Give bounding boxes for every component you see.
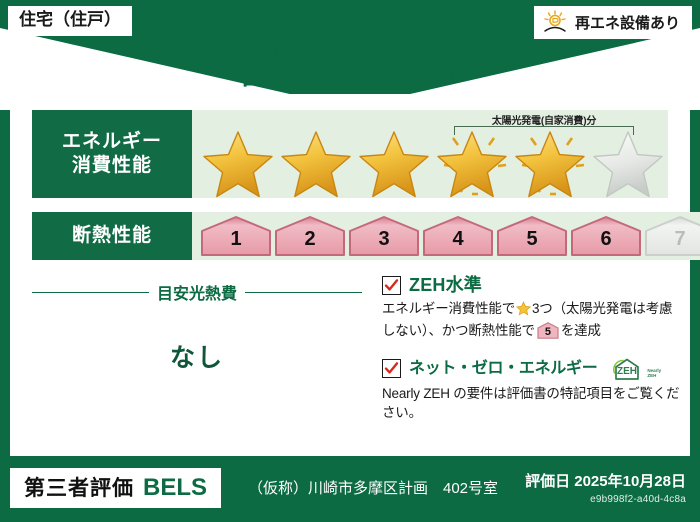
label-title: 建築物省エネ法に基づく 省エネ性能ラベル [0,40,700,93]
zeh-standard-head: ZEH水準 [382,276,682,296]
insulation-level-scale: 1234567 [192,215,700,257]
star-outline-icon [592,130,664,200]
star-icon [202,130,274,200]
star-icon [436,130,508,200]
insulation-house-filled: 3 [348,215,420,257]
evaluation-info: 評価日 2025年10月28日 e9b998f2-a40d-4c8a [525,470,686,505]
utility-cost-block: 目安光熱費 なし [32,280,362,374]
building-name: （仮称）川崎市多摩区計画 402号室 [248,477,498,498]
zeh-block: ZEH水準 エネルギー消費性能で3つ（太陽光発電は考慮しない）、かつ断熱性能で5… [382,276,682,429]
evaluation-date-label: 評価日 [525,473,570,490]
rule-left [32,292,149,293]
insulation-level-icon: 5 [537,322,559,345]
zeh-standard-description: エネルギー消費性能で3つ（太陽光発電は考慮しない）、かつ断熱性能で5を達成 [382,299,682,345]
insulation-house-number: 4 [422,229,494,249]
renewable-badge-label: 再エネ設備あり [575,12,680,33]
footer-bar: 第三者評価 BELS （仮称）川崎市多摩区計画 402号室 評価日 2025年1… [0,458,700,522]
star-icon [358,130,430,200]
insulation-house-number: 2 [274,229,346,249]
star-filled [354,124,432,196]
evaluation-date-value: 2025年10月28日 [574,473,686,490]
energy-performance-label: 住宅（住戸） 再エネ設備あり 建築物省エネ法に基づく 省エネ性能ラベル [0,0,700,522]
zeh-desc-part1: エネルギー消費性能で [382,301,515,316]
renewable-equipment-badge: 再エネ設備あり [534,6,692,39]
title-subtitle: 建築物省エネ法に基づく [0,40,700,57]
energy-label-line2: 消費性能 [72,154,152,178]
evaluation-id: e9b998f2-a40d-4c8a [525,494,686,505]
evaluation-date-row: 評価日 2025年10月28日 [525,470,686,491]
insulation-performance-label: 断熱性能 [32,212,192,260]
net-zero-head: ネット・ゼロ・エネルギー ZEH Nearly ZEH [382,357,682,381]
zeh-desc-part3: を達成 [561,323,601,338]
energy-performance-row: エネルギー 消費性能 太陽光発電(自家消費)分 [32,110,668,198]
zeh-logo-caption: Nearly ZEH [647,369,661,380]
star-icon [516,301,531,322]
check-icon [384,361,399,376]
star-filled [510,124,588,196]
building-type-tag: 住宅（住戸） [8,6,132,36]
star-empty [588,124,666,196]
utility-cost-heading: 目安光熱費 [157,280,237,304]
insulation-house-number: 7 [644,229,700,249]
insulation-house-filled: 2 [274,215,346,257]
insulation-house-number: 1 [200,229,272,249]
insulation-house-filled: 6 [570,215,642,257]
energy-performance-label: エネルギー 消費性能 [32,110,192,198]
label-body: エネルギー 消費性能 太陽光発電(自家消費)分 断熱性能 1234567 目安光… [10,94,690,456]
zeh-logo: ZEH Nearly ZEH [609,357,661,381]
zeh-standard-item: ZEH水準 エネルギー消費性能で3つ（太陽光発電は考慮しない）、かつ断熱性能で5… [382,276,682,345]
zeh-standard-title: ZEH水準 [409,276,482,296]
net-zero-energy-item: ネット・ゼロ・エネルギー ZEH Nearly ZEH [382,357,682,423]
insulation-level-icon-number: 5 [537,325,559,341]
bels-japanese-label: 第三者評価 [24,472,134,502]
net-zero-description: Nearly ZEH の要件は評価書の特記項目をご覧ください。 [382,384,682,423]
title-main: 省エネ性能ラベル [0,59,700,93]
solar-sun-icon [542,10,568,34]
insulation-performance-value: 1234567 [192,212,700,260]
insulation-performance-row: 断熱性能 1234567 [32,212,668,260]
net-zero-checkbox[interactable] [382,359,401,378]
insulation-house-empty: 7 [644,215,700,257]
star-icon [280,130,352,200]
zeh-standard-checkbox[interactable] [382,276,401,295]
net-zero-title: ネット・ゼロ・エネルギー [409,360,597,378]
insulation-house-filled: 1 [200,215,272,257]
energy-label-line1: エネルギー [62,130,162,154]
energy-star-rating [192,124,668,196]
energy-performance-value: 太陽光発電(自家消費)分 [192,110,668,198]
svg-text:ZEH: ZEH [617,366,637,377]
insulation-house-filled: 5 [496,215,568,257]
rule-right [245,292,362,293]
star-filled [198,124,276,196]
star-icon [514,130,586,200]
star-filled [432,124,510,196]
bels-logo-text: BELS [143,474,207,502]
bels-chip: 第三者評価 BELS [10,468,221,508]
zeh-logo-caption-line2: ZEH [647,373,656,378]
zeh-house-icon: ZEH [609,357,645,381]
insulation-house-filled: 4 [422,215,494,257]
insulation-house-number: 3 [348,229,420,249]
insulation-house-number: 5 [496,229,568,249]
label-lower-section: 目安光熱費 なし ZEH水準 エネルギー消 [10,274,690,454]
insulation-house-number: 6 [570,229,642,249]
utility-cost-value: なし [32,338,362,374]
utility-cost-heading-row: 目安光熱費 [32,280,362,304]
check-icon [384,278,399,293]
star-filled [276,124,354,196]
